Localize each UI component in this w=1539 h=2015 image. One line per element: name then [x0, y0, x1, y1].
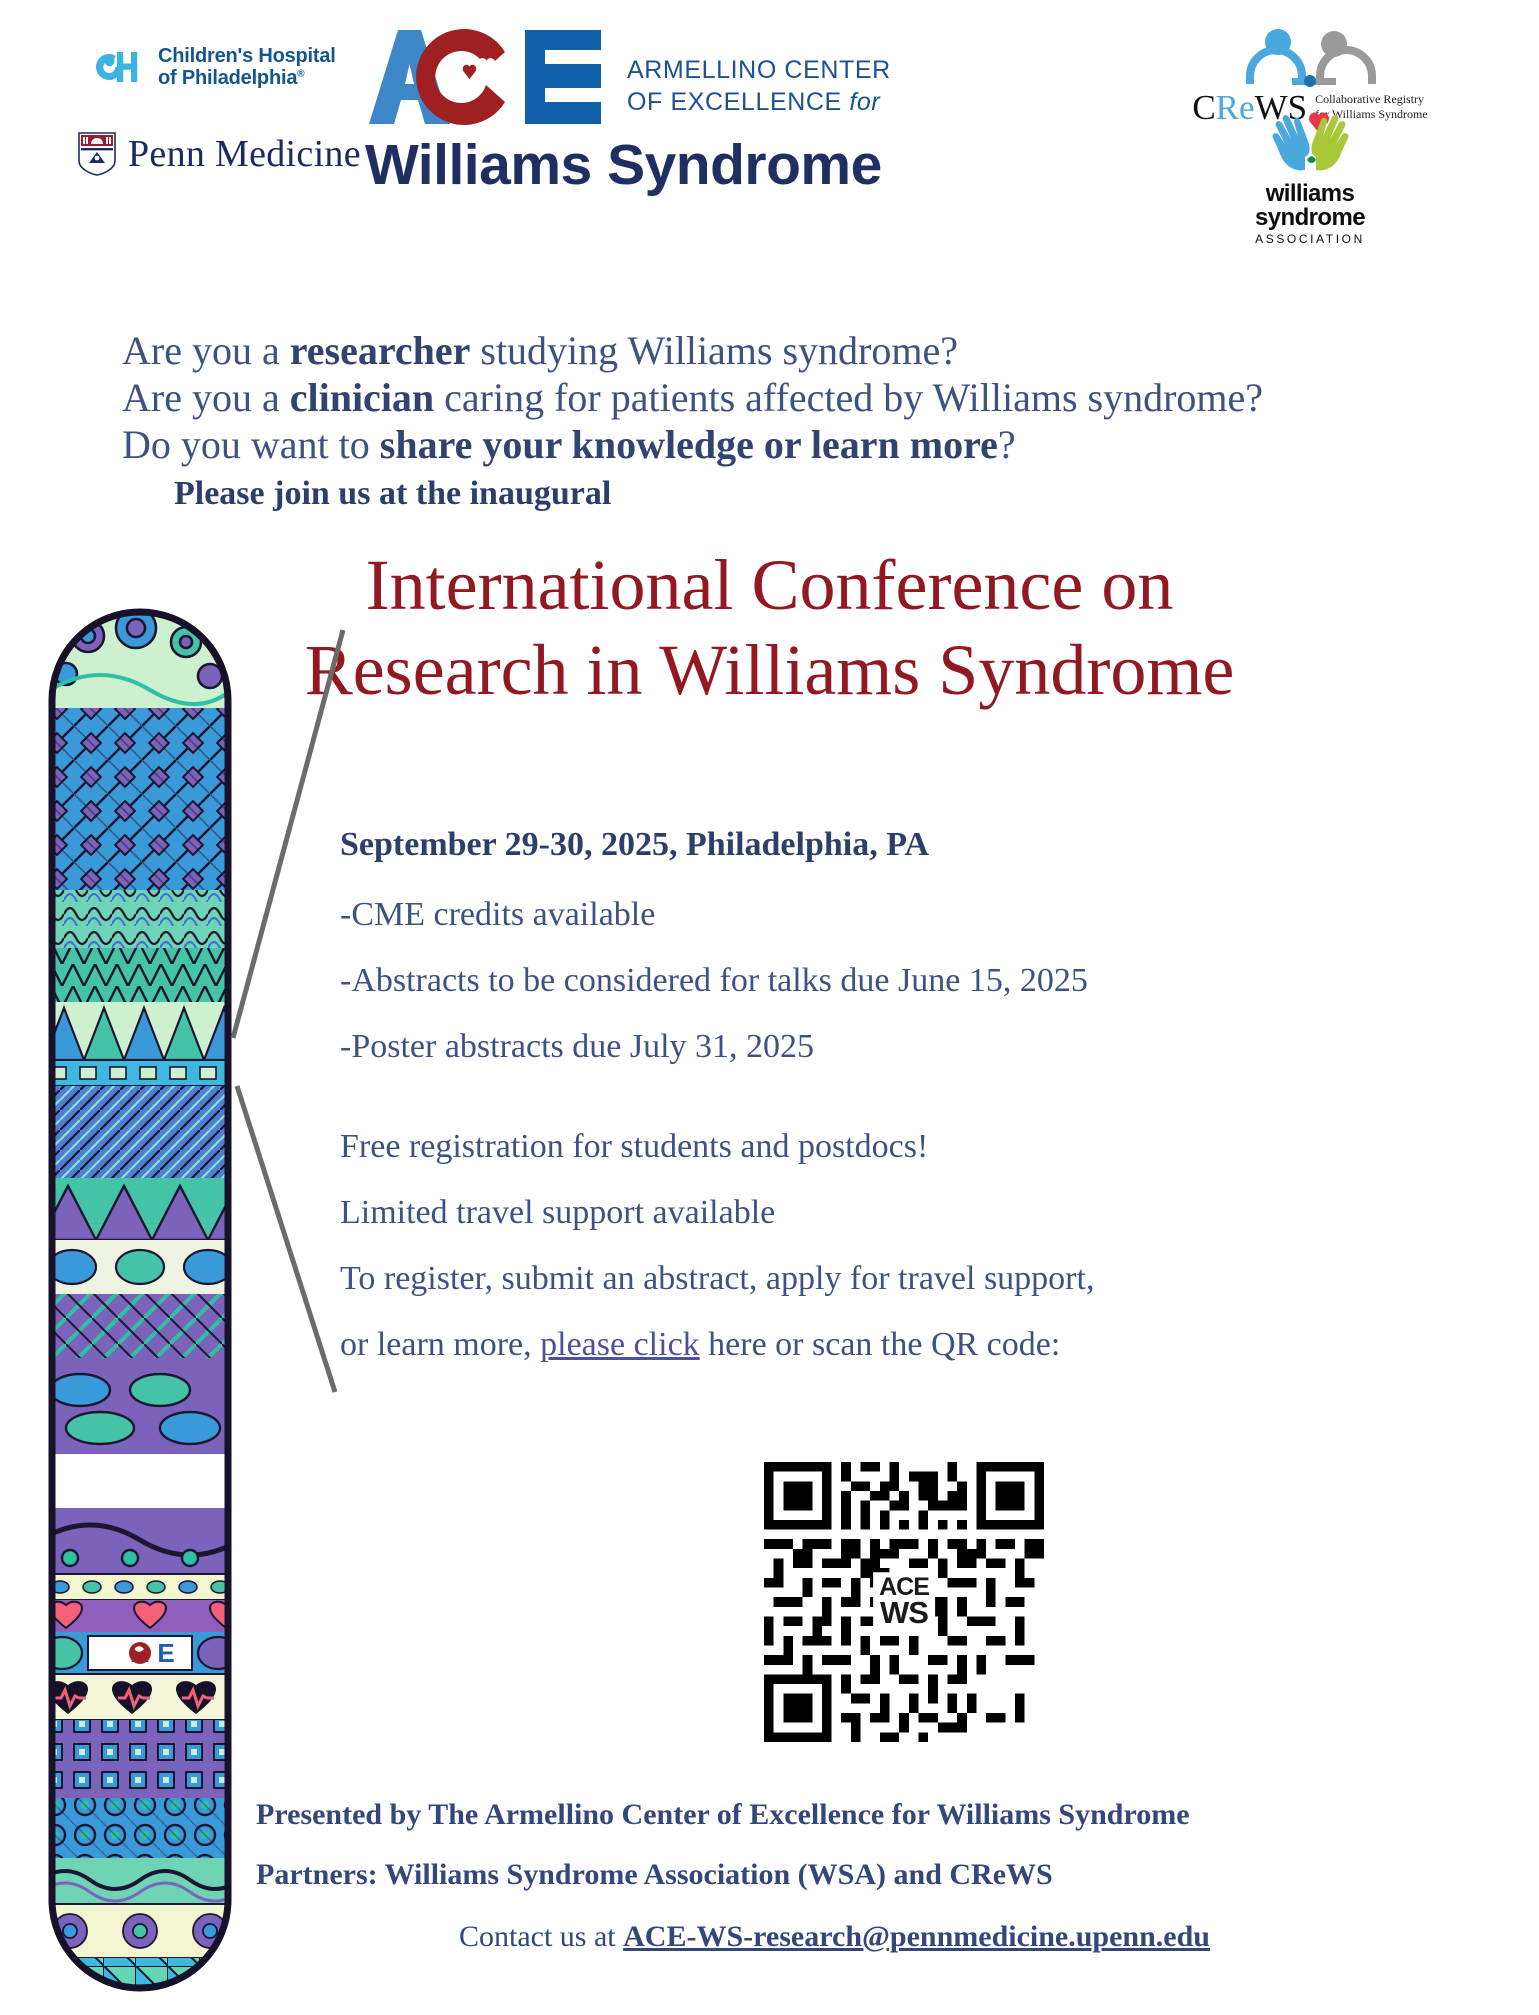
detail-talk-abstracts: -Abstracts to be considered for talks du… [340, 964, 1470, 998]
footer-partners: Partners: Williams Syndrome Association … [0, 1860, 1539, 1890]
detail-cme: -CME credits available [340, 898, 1470, 932]
detail-spacer [340, 1096, 1470, 1130]
question-clinician: Are you a clinician caring for patients … [122, 375, 1442, 422]
chop-logo: Children's Hospital of Philadelphia® [92, 42, 336, 92]
wsa-hands-heart-icon [1250, 110, 1370, 182]
ace-tagline-line-2: OF EXCELLENCE for [627, 86, 891, 118]
qr-logo-line-2: WS [879, 1599, 929, 1628]
detail-date-location: September 29-30, 2025, Philadelphia, PA [340, 826, 1470, 864]
svg-text:E: E [157, 1638, 174, 1668]
footer-contact: Contact us at ACE-WS-research@pennmedici… [0, 1920, 1539, 1954]
ace-letters-icon [365, 28, 605, 126]
decorative-artwork-column: A E [40, 590, 240, 2010]
wsa-name-line-2: syndrome [1215, 206, 1405, 230]
conference-details-block: September 29-30, 2025, Philadelphia, PA … [340, 826, 1470, 1394]
crews-people-icon [1230, 28, 1390, 88]
please-click-link[interactable]: please click [540, 1326, 700, 1363]
williams-syndrome-association-logo: williams syndrome ASSOCIATION [1215, 110, 1405, 246]
ace-tagline-line-1: ARMELLINO CENTER [627, 54, 891, 86]
audience-questions-block: Are you a researcher studying Williams s… [122, 328, 1442, 514]
qr-center-logo: ACE WS [873, 1572, 935, 1632]
footer-block: Presented by The Armellino Center of Exc… [0, 1800, 1539, 1954]
penn-medicine-logo: Penn Medicine [78, 132, 361, 176]
ace-wordmark: Williams Syndrome [365, 132, 882, 198]
join-invitation: Please join us at the inaugural [174, 474, 1442, 514]
chop-line-2: of Philadelphia® [158, 67, 336, 89]
wsa-association-label: ASSOCIATION [1215, 232, 1405, 246]
detail-register-line-1: To register, submit an abstract, apply f… [340, 1262, 1470, 1296]
chop-mark-icon [92, 42, 148, 92]
chop-line-1: Children's Hospital [158, 45, 336, 67]
contact-email-link[interactable]: ACE-WS-research@pennmedicine.upenn.edu [623, 1920, 1210, 1953]
wsa-name: williams syndrome [1215, 182, 1405, 229]
detail-poster-abstracts: -Poster abstracts due July 31, 2025 [340, 1030, 1470, 1064]
question-researcher: Are you a researcher studying Williams s… [122, 328, 1442, 375]
penn-medicine-text: Penn Medicine [128, 132, 361, 176]
footer-presented-by: Presented by The Armellino Center of Exc… [0, 1800, 1539, 1830]
wsa-name-line-1: williams [1215, 182, 1405, 206]
question-share-knowledge: Do you want to share your knowledge or l… [122, 422, 1442, 469]
penn-shield-icon [78, 132, 116, 176]
qr-code[interactable]: ACE WS [764, 1462, 1044, 1742]
ace-logo: ARMELLINO CENTER OF EXCELLENCE for Willi… [365, 28, 905, 208]
detail-travel-support: Limited travel support available [340, 1196, 1470, 1230]
ace-tagline: ARMELLINO CENTER OF EXCELLENCE for [627, 54, 891, 118]
header-logo-bar: Children's Hospital of Philadelphia® Pen… [0, 0, 1539, 240]
chop-logo-text: Children's Hospital of Philadelphia® [158, 45, 336, 90]
artwork-svg: A E [40, 590, 240, 2010]
registered-mark-icon: ® [297, 68, 304, 79]
detail-register-line-2: or learn more, please click here or scan… [340, 1328, 1470, 1362]
crews-subtitle-line-1: Collaborative Registry [1315, 92, 1428, 107]
detail-free-registration: Free registration for students and postd… [340, 1130, 1470, 1164]
